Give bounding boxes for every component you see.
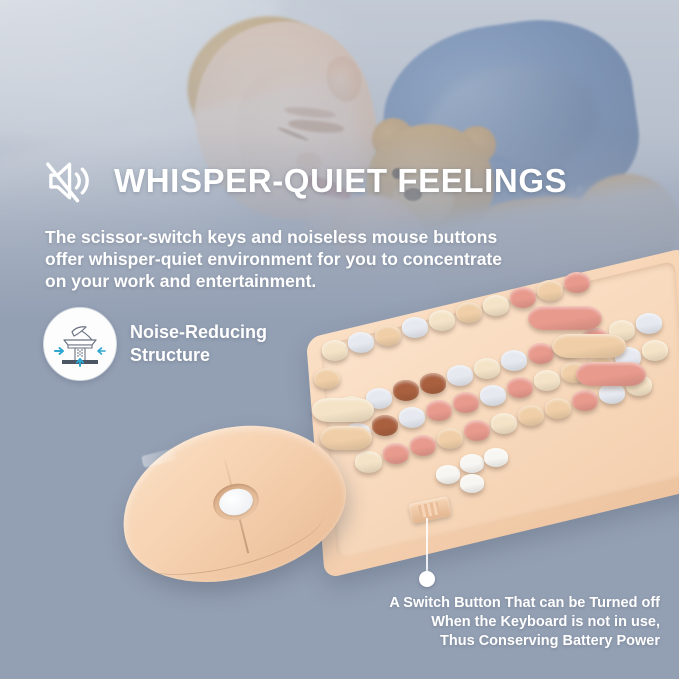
headline-row: WHISPER-QUIET FEELINGS [45,158,567,204]
product-marketing-banner: WHISPER-QUIET FEELINGS The scissor-switc… [0,0,679,679]
keyboard [300,268,679,558]
keycap[interactable] [507,377,533,398]
keycap[interactable] [576,362,646,386]
keycap[interactable] [552,334,626,358]
page-title: WHISPER-QUIET FEELINGS [114,162,567,200]
body-line-1: The scissor-switch keys and noiseless mo… [45,226,565,248]
keycap[interactable] [399,407,425,428]
callout-leader-line [426,518,428,576]
badge-label-line-1: Noise-Reducing [130,321,267,344]
keycap[interactable] [314,368,340,389]
keycap[interactable] [447,365,473,386]
keycap[interactable] [518,405,544,426]
keycap[interactable] [437,428,463,449]
keycap[interactable] [501,350,527,371]
keycap[interactable] [491,413,517,434]
keycap[interactable] [534,370,560,391]
callout-line-3: Thus Conserving Battery Power [300,632,660,651]
keycap[interactable] [375,325,401,346]
keycap[interactable] [460,454,484,473]
callout-dot [419,571,435,587]
keycap[interactable] [545,398,571,419]
keycap-group [300,268,679,558]
keycap[interactable] [372,415,398,436]
keycap[interactable] [312,398,374,422]
keycap[interactable] [510,287,536,308]
keycap[interactable] [383,443,409,464]
keycap[interactable] [636,313,662,334]
keycap[interactable] [480,385,506,406]
keycap[interactable] [564,272,590,293]
callout-line-2: When the Keyboard is not in use, [300,613,660,632]
keycap[interactable] [528,343,554,364]
keycap[interactable] [460,474,484,493]
badge-circle [43,307,117,381]
mute-speaker-icon [45,158,100,204]
keycap[interactable] [410,435,436,456]
feature-badge: Noise-Reducing Structure [43,307,267,381]
keycap[interactable] [402,317,428,338]
badge-label-line-2: Structure [130,344,267,367]
keycap[interactable] [426,400,452,421]
keycap[interactable] [322,340,348,361]
keycap[interactable] [528,306,602,330]
keycap[interactable] [420,373,446,394]
keycap[interactable] [348,332,374,353]
keycap[interactable] [464,420,490,441]
keycap[interactable] [429,310,455,331]
keycap[interactable] [436,465,460,484]
keycap[interactable] [456,302,482,323]
keycap[interactable] [642,340,668,361]
wireless-mouse [120,428,346,578]
keycap[interactable] [453,392,479,413]
keycap[interactable] [483,295,509,316]
badge-label: Noise-Reducing Structure [130,321,267,367]
key-switch-cross-section-icon [50,314,110,374]
keycap[interactable] [537,280,563,301]
keycap[interactable] [474,358,500,379]
callout-line-1: A Switch Button That can be Turned off [300,594,660,613]
body-line-2: offer whisper-quiet environment for you … [45,248,565,270]
keycap[interactable] [599,383,625,404]
keycap[interactable] [572,390,598,411]
keycap[interactable] [393,380,419,401]
keycap[interactable] [484,448,508,467]
callout-caption: A Switch Button That can be Turned off W… [300,594,660,651]
keycap[interactable] [355,451,382,473]
